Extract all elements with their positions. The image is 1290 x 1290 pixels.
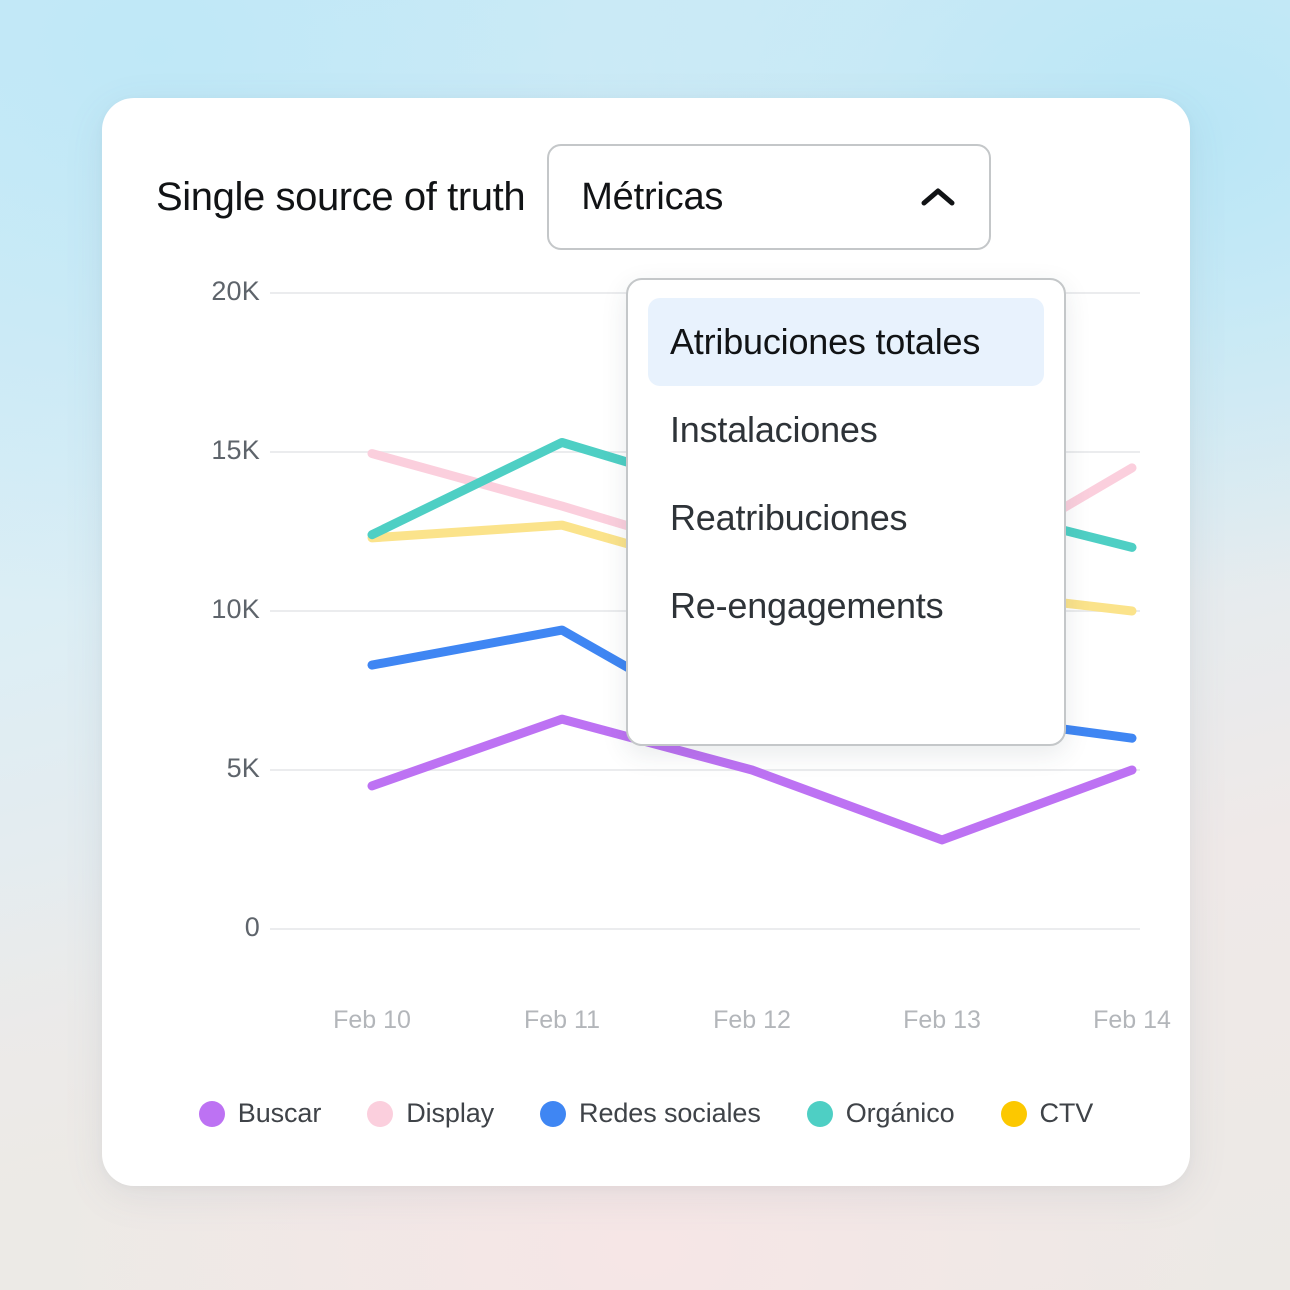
legend-color-dot <box>540 1101 566 1127</box>
legend-label: CTV <box>1040 1098 1094 1129</box>
legend-label: Redes sociales <box>579 1098 761 1129</box>
dropdown-item-1[interactable]: Instalaciones <box>648 386 1044 474</box>
legend-item-buscar[interactable]: Buscar <box>199 1098 321 1129</box>
legend-color-dot <box>1001 1101 1027 1127</box>
metric-select-value: Métricas <box>581 176 723 219</box>
legend-color-dot <box>807 1101 833 1127</box>
legend-item-redes-sociales[interactable]: Redes sociales <box>540 1098 761 1129</box>
metric-dropdown-menu[interactable]: Atribuciones totalesInstalacionesReatrib… <box>626 278 1066 746</box>
dropdown-item-0[interactable]: Atribuciones totales <box>648 298 1044 386</box>
legend-label: Buscar <box>238 1098 321 1129</box>
legend-item-display[interactable]: Display <box>367 1098 494 1129</box>
dropdown-item-label: Reatribuciones <box>670 497 907 539</box>
y-tick-label: 20K <box>170 276 260 307</box>
legend-color-dot <box>199 1101 225 1127</box>
dropdown-item-3[interactable]: Re-engagements <box>648 562 1044 650</box>
dropdown-item-2[interactable]: Reatribuciones <box>648 474 1044 562</box>
legend-color-dot <box>367 1101 393 1127</box>
dashboard-card: 05K10K15K20K Feb 10Feb 11Feb 12Feb 13Feb… <box>102 98 1190 1186</box>
legend-label: Display <box>406 1098 494 1129</box>
x-axis-labels: Feb 10Feb 11Feb 12Feb 13Feb 14 <box>270 1006 1140 1046</box>
metric-select-button[interactable]: Métricas <box>547 144 991 250</box>
legend-item-ctv[interactable]: CTV <box>1001 1098 1094 1129</box>
y-tick-label: 10K <box>170 594 260 625</box>
legend-item-orgánico[interactable]: Orgánico <box>807 1098 955 1129</box>
dropdown-item-label: Atribuciones totales <box>670 321 980 363</box>
chevron-up-icon <box>921 187 955 207</box>
page-title: Single source of truth <box>156 177 525 217</box>
card-header: Single source of truth Métricas <box>156 144 991 250</box>
dropdown-item-label: Instalaciones <box>670 409 878 451</box>
x-tick-label: Feb 12 <box>713 1006 791 1035</box>
y-tick-label: 15K <box>170 435 260 466</box>
x-tick-label: Feb 14 <box>1093 1006 1171 1035</box>
y-tick-label: 0 <box>170 912 260 943</box>
x-tick-label: Feb 13 <box>903 1006 981 1035</box>
x-tick-label: Feb 10 <box>333 1006 411 1035</box>
chart-legend: BuscarDisplayRedes socialesOrgánicoCTV <box>102 1098 1190 1129</box>
legend-label: Orgánico <box>846 1098 955 1129</box>
y-tick-label: 5K <box>170 753 260 784</box>
dropdown-item-label: Re-engagements <box>670 585 943 627</box>
x-tick-label: Feb 11 <box>524 1006 600 1035</box>
